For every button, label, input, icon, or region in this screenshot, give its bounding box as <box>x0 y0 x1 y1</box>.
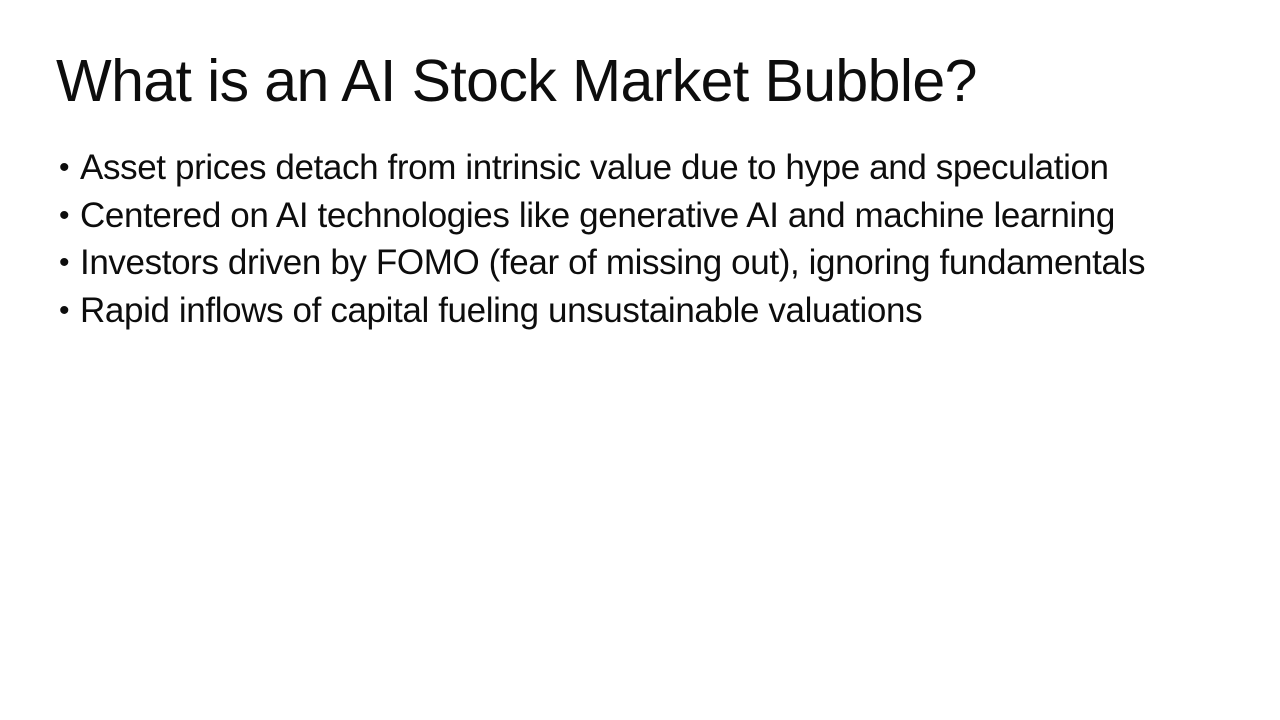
list-item: • Asset prices detach from intrinsic val… <box>56 144 1236 192</box>
list-item-label: Asset prices detach from intrinsic value… <box>80 144 1109 192</box>
list-item: • Investors driven by FOMO (fear of miss… <box>56 239 1236 287</box>
slide-canvas: What is an AI Stock Market Bubble? • Ass… <box>0 0 1280 720</box>
bullet-dot-icon: • <box>56 239 80 287</box>
bullet-dot-icon: • <box>56 144 80 192</box>
list-item-label: Centered on AI technologies like generat… <box>80 192 1115 240</box>
list-item-label: Rapid inflows of capital fueling unsusta… <box>80 287 922 335</box>
list-item: • Centered on AI technologies like gener… <box>56 192 1236 240</box>
bullet-dot-icon: • <box>56 192 80 240</box>
bullet-list: • Asset prices detach from intrinsic val… <box>56 144 1236 334</box>
list-item-label: Investors driven by FOMO (fear of missin… <box>80 239 1145 287</box>
bullet-dot-icon: • <box>56 287 80 335</box>
list-item: • Rapid inflows of capital fueling unsus… <box>56 287 1236 335</box>
page-title: What is an AI Stock Market Bubble? <box>56 50 1226 114</box>
